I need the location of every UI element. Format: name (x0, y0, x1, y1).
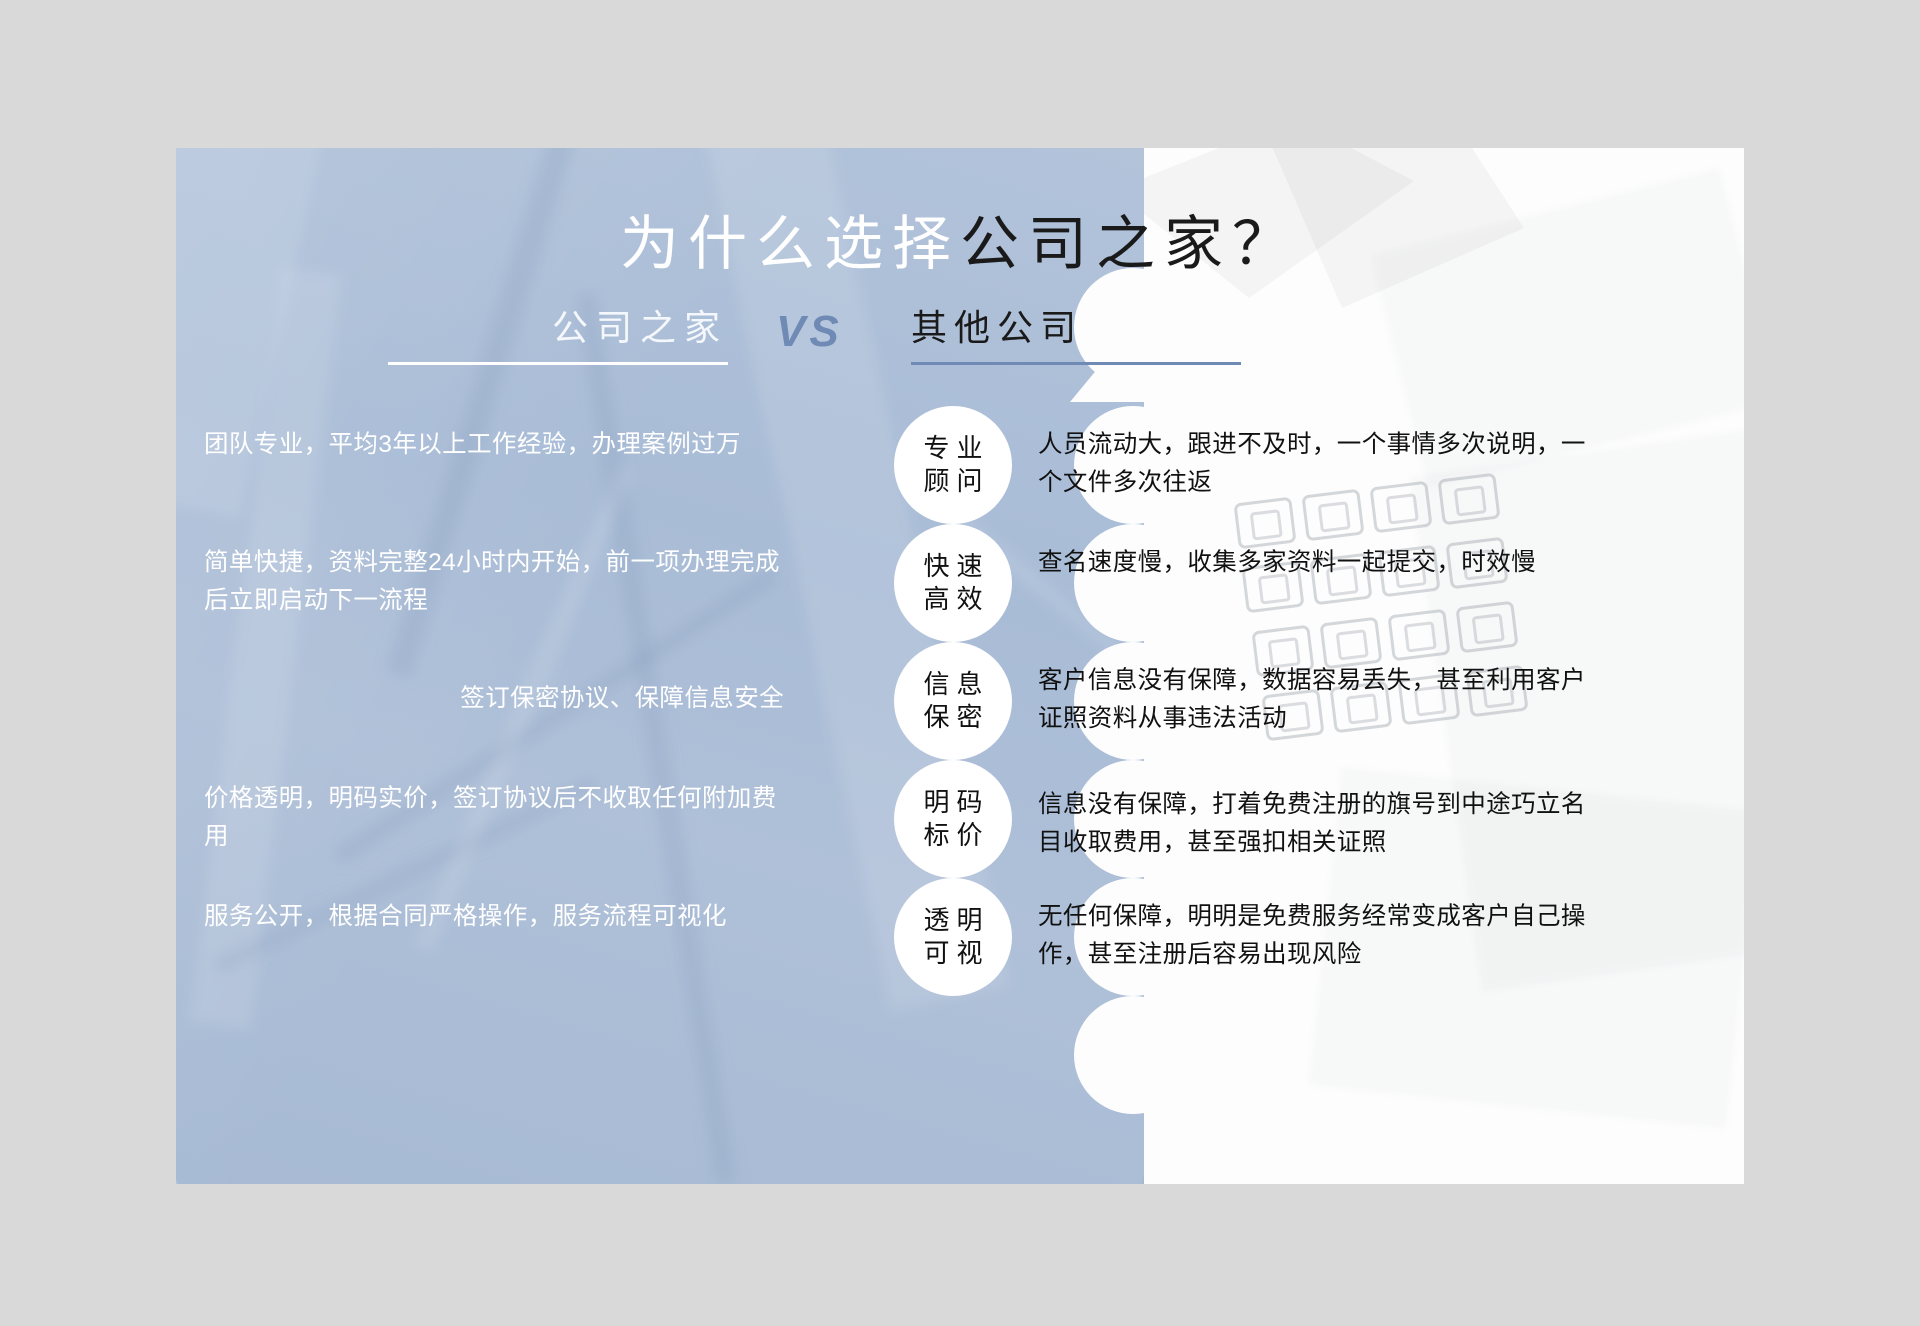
versus-header: 公司之家 VS 其他公司 (176, 303, 1744, 393)
row-left-text: 签订保密协议、保障信息安全 (204, 680, 784, 718)
row-badge: 专业 顾问 (894, 406, 1012, 524)
row-badge-line1: 信息 (916, 668, 989, 701)
row-badge-line1: 专业 (916, 432, 989, 465)
row-badge-line2: 高效 (916, 583, 989, 616)
row-badge-line1: 透明 (916, 904, 989, 937)
row-badge-line1: 明码 (916, 786, 989, 819)
row-left-text: 简单快捷，资料完整24小时内开始，前一项办理完成后立即启动下一流程 (204, 544, 784, 620)
row-badge: 透明 可视 (894, 878, 1012, 996)
row-right-text: 信息没有保障，打着免费注册的旗号到中途巧立名目收取费用，甚至强扣相关证照 (1038, 786, 1598, 862)
page-title: 为什么选择公司之家？ (176, 196, 1744, 281)
page-title-dark: 公司之家？ (960, 211, 1300, 277)
versus-badge: VS (776, 307, 843, 357)
header-right-label: 其他公司 (911, 303, 1241, 353)
row-badge-line2: 保密 (916, 701, 989, 734)
row-right-text: 查名速度慢，收集多家资料一起提交，时效慢 (1038, 544, 1598, 582)
header-left-wrap: 公司之家 (388, 303, 728, 365)
row-left-text: 团队专业，平均3年以上工作经验，办理案例过万 (204, 426, 784, 464)
header-right-underline (911, 362, 1241, 365)
header-right-wrap: 其他公司 (911, 303, 1241, 365)
row-right-text: 客户信息没有保障，数据容易丢失，甚至利用客户证照资料从事违法活动 (1038, 662, 1598, 738)
comparison-slide: 为什么选择公司之家？ 公司之家 VS 其他公司 团队专业，平均3年以上工作经验，… (176, 148, 1744, 1184)
row-right-text: 无任何保障，明明是免费服务经常变成客户自己操作，甚至注册后容易出现风险 (1038, 898, 1598, 974)
row-left-text: 价格透明，明码实价，签订协议后不收取任何附加费用 (204, 780, 784, 856)
row-badge: 信息 保密 (894, 642, 1012, 760)
header-left-label: 公司之家 (388, 303, 728, 353)
row-badge-line2: 可视 (916, 937, 989, 970)
row-badge: 快速 高效 (894, 524, 1012, 642)
page-title-white: 为什么选择 (620, 211, 960, 277)
header-left-underline (388, 362, 728, 365)
row-right-text: 人员流动大，跟进不及时，一个事情多次说明，一个文件多次往返 (1038, 426, 1598, 502)
row-badge-line2: 顾问 (916, 465, 989, 498)
row-left-text: 服务公开，根据合同严格操作，服务流程可视化 (204, 898, 784, 936)
row-badge-line1: 快速 (916, 550, 989, 583)
row-badge-line2: 标价 (916, 819, 989, 852)
row-badge: 明码 标价 (894, 760, 1012, 878)
